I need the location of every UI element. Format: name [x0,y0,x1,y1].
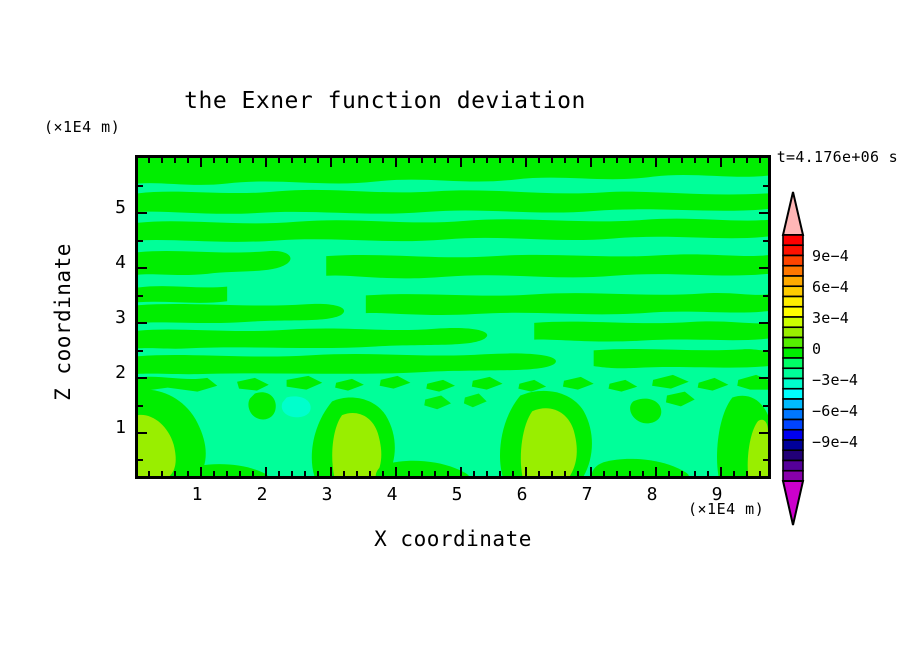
x-tick-major [330,467,332,476]
x-tick-top [200,158,202,167]
y-axis-title: Z coordinate [51,222,75,422]
x-tick-minor [278,471,280,476]
colorbar-over-arrow [783,192,803,235]
y-tick-minor [138,459,143,461]
x-tick-top [265,158,267,167]
x-tick-minor [512,471,514,476]
x-tick-minor [577,471,579,476]
x-tick-top [317,158,319,163]
x-tick-top [213,158,215,163]
x-tick-major [395,467,397,476]
colorbar-label: 6e−4 [812,278,849,296]
x-tick-top [551,158,553,163]
y-tick-label: 5 [98,197,126,218]
x-tick-minor [681,471,683,476]
x-tick-top [681,158,683,163]
x-tick-minor [213,471,215,476]
y-tick-major [138,432,147,434]
x-tick-top [759,158,761,163]
y-tick-major [138,212,147,214]
time-annotation: t=4.176e+06 s [777,148,898,166]
x-tick-top [460,158,462,167]
x-tick-minor [668,471,670,476]
page-title: the Exner function deviation [0,88,770,114]
x-tick-top [161,158,163,163]
y-tick-right [763,405,768,407]
x-tick-top [473,158,475,163]
y-tick-minor [138,295,143,297]
x-tick-minor [629,471,631,476]
y-tick-minor [138,350,143,352]
x-tick-top [187,158,189,163]
x-tick-minor [343,471,345,476]
x-tick-label: 8 [637,484,667,505]
y-tick-major [138,377,147,379]
x-tick-label: 5 [442,484,472,505]
colorbar-graphic [778,190,808,527]
y-tick-label: 1 [98,417,126,438]
x-tick-minor [187,471,189,476]
x-tick-label: 6 [507,484,537,505]
x-tick-top [408,158,410,163]
x-tick-top [369,158,371,163]
x-tick-top [564,158,566,163]
x-tick-top [304,158,306,163]
x-tick-minor [603,471,605,476]
x-tick-major [200,467,202,476]
x-tick-label: 2 [247,484,277,505]
x-tick-minor [538,471,540,476]
y-tick-label: 4 [98,252,126,273]
y-tick-right [763,240,768,242]
y-tick-right [759,322,768,324]
x-tick-top [590,158,592,167]
x-tick-minor [746,471,748,476]
y-tick-minor [138,405,143,407]
colorbar-label: −6e−4 [812,402,858,420]
y-tick-label: 2 [98,362,126,383]
x-tick-minor [382,471,384,476]
x-tick-minor [317,471,319,476]
x-tick-top [291,158,293,163]
x-tick-top [577,158,579,163]
x-tick-top [382,158,384,163]
x-tick-top [629,158,631,163]
x-tick-top [278,158,280,163]
x-tick-minor [252,471,254,476]
x-axis-unit-label: (×1E4 m) [688,500,764,518]
x-tick-top [603,158,605,163]
x-tick-top [694,158,696,163]
x-tick-minor [291,471,293,476]
colorbar-labels: 9e−4 6e−4 3e−4 0 −3e−4 −6e−4 −9e−4 [808,190,898,527]
x-tick-top [668,158,670,163]
y-tick-right [763,185,768,187]
x-tick-top [642,158,644,163]
y-tick-major [138,322,147,324]
contour-plot-area[interactable] [135,155,771,479]
x-tick-label: 1 [182,484,212,505]
x-tick-top [252,158,254,163]
y-tick-right [759,432,768,434]
x-tick-label: 4 [377,484,407,505]
x-tick-major [265,467,267,476]
x-tick-minor [161,471,163,476]
y-axis-unit-label: (×1E4 m) [44,118,120,136]
x-tick-top [720,158,722,167]
colorbar-label: −9e−4 [812,433,858,451]
x-tick-major [460,467,462,476]
x-tick-top [148,158,150,163]
x-tick-top [746,158,748,163]
x-tick-minor [148,471,150,476]
x-tick-minor [356,471,358,476]
x-tick-minor [304,471,306,476]
x-tick-minor [564,471,566,476]
x-tick-major [525,467,527,476]
x-tick-minor [174,471,176,476]
contour-field [138,158,768,476]
x-tick-top [447,158,449,163]
x-tick-top [655,158,657,167]
colorbar-under-arrow [783,481,803,525]
x-tick-top [395,158,397,167]
x-tick-top [343,158,345,163]
x-tick-minor [239,471,241,476]
x-tick-minor [733,471,735,476]
y-tick-right [759,267,768,269]
x-tick-top [499,158,501,163]
colorbar[interactable] [778,190,808,527]
x-tick-major [720,467,722,476]
x-tick-minor [707,471,709,476]
x-tick-minor [408,471,410,476]
colorbar-label: −3e−4 [812,371,858,389]
x-tick-minor [499,471,501,476]
x-tick-minor [694,471,696,476]
x-tick-top [226,158,228,163]
x-tick-minor [473,471,475,476]
x-tick-top [512,158,514,163]
x-tick-top [330,158,332,167]
x-tick-minor [447,471,449,476]
colorbar-label: 9e−4 [812,247,849,265]
x-tick-major [655,467,657,476]
x-tick-top [434,158,436,163]
x-tick-label: 7 [572,484,602,505]
x-tick-minor [486,471,488,476]
x-tick-top [239,158,241,163]
x-tick-top [733,158,735,163]
y-tick-minor [138,185,143,187]
colorbar-label: 3e−4 [812,309,849,327]
x-tick-minor [226,471,228,476]
x-tick-minor [369,471,371,476]
x-tick-minor [759,471,761,476]
y-tick-right [759,212,768,214]
x-tick-top [538,158,540,163]
x-tick-top [525,158,527,167]
x-tick-minor [551,471,553,476]
y-tick-right [763,295,768,297]
x-tick-minor [434,471,436,476]
x-tick-minor [642,471,644,476]
x-tick-top [174,158,176,163]
x-tick-minor [421,471,423,476]
x-tick-top [421,158,423,163]
y-tick-major [138,267,147,269]
y-tick-right [763,459,768,461]
x-tick-top [356,158,358,163]
y-tick-right [763,350,768,352]
x-tick-major [590,467,592,476]
x-tick-minor [616,471,618,476]
x-tick-label: 3 [312,484,342,505]
x-tick-top [486,158,488,163]
colorbar-label: 0 [812,340,821,358]
x-tick-top [707,158,709,163]
y-tick-label: 3 [98,307,126,328]
y-tick-right [759,377,768,379]
x-tick-top [616,158,618,163]
x-axis-title: X coordinate [135,527,771,551]
y-tick-minor [138,240,143,242]
